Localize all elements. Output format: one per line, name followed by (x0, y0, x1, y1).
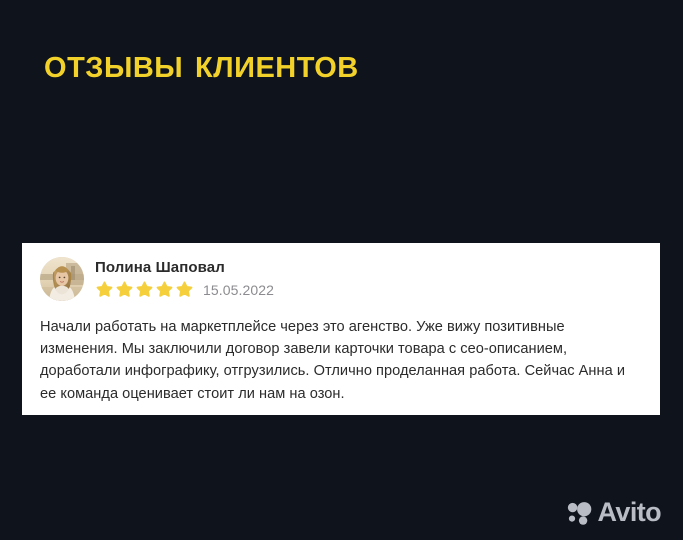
page-title: Отзывы клиентов (44, 42, 359, 85)
avito-dots-icon (567, 501, 593, 525)
avito-logo: Avito (567, 499, 662, 526)
slide-root: Отзывы клиентов (0, 0, 683, 540)
star-icon (115, 280, 134, 299)
review-date: 15.05.2022 (203, 281, 274, 299)
review-text: Начали работать на маркетплейсе через эт… (40, 316, 642, 405)
star-icon (155, 280, 174, 299)
star-icon (135, 280, 154, 299)
avatar (40, 257, 84, 301)
reviewer-name: Полина Шаповал (95, 258, 274, 277)
review-body: Начали работать на маркетплейсе через эт… (40, 316, 642, 405)
star-rating (95, 280, 194, 299)
avatar-photo-icon (40, 257, 84, 301)
review-header: Полина Шаповал (40, 257, 642, 305)
rating-row: 15.05.2022 (95, 280, 274, 299)
star-icon (175, 280, 194, 299)
review-meta: Полина Шаповал (95, 257, 274, 299)
review-card: Полина Шаповал (22, 243, 660, 415)
star-icon (95, 280, 114, 299)
avito-wordmark: Avito (598, 499, 662, 526)
